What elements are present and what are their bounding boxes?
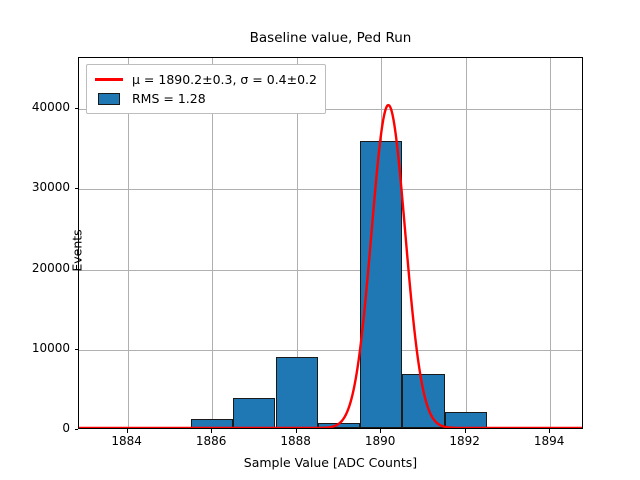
x-tick-label: 1888: [256, 434, 336, 448]
x-tick-label: 1886: [171, 434, 251, 448]
y-tick-label: 10000: [0, 341, 70, 355]
legend-entry-label: μ = 1890.2±0.3, σ = 0.4±0.2: [132, 72, 317, 87]
x-tick-mark: [465, 429, 466, 433]
x-tick-label: 1892: [425, 434, 505, 448]
y-tick-label: 30000: [0, 180, 70, 194]
legend-entry-histogram: RMS = 1.28: [94, 89, 317, 108]
x-tick-label: 1890: [340, 434, 420, 448]
x-tick-label: 1884: [87, 434, 167, 448]
legend-line-key-icon: [94, 78, 124, 81]
y-tick-label: 20000: [0, 261, 70, 275]
legend-entry-label: RMS = 1.28: [132, 91, 206, 106]
x-tick-mark: [380, 429, 381, 433]
chart-legend: μ = 1890.2±0.3, σ = 0.4±0.2 RMS = 1.28: [86, 64, 326, 114]
chart-title: Baseline value, Ped Run: [78, 30, 583, 46]
x-tick-mark: [211, 429, 212, 433]
chart-figure: Baseline value, Ped Run 1884188618881890…: [0, 0, 640, 480]
y-tick-mark: [75, 108, 79, 109]
y-tick-mark: [75, 349, 79, 350]
legend-patch-key-icon: [94, 93, 124, 105]
x-tick-mark: [296, 429, 297, 433]
y-tick-mark: [75, 429, 79, 430]
y-tick-label: 40000: [0, 100, 70, 114]
legend-entry-fit: μ = 1890.2±0.3, σ = 0.4±0.2: [94, 70, 317, 89]
x-tick-mark: [549, 429, 550, 433]
x-tick-label: 1894: [509, 434, 589, 448]
x-tick-mark: [127, 429, 128, 433]
y-axis-label: Events: [70, 171, 85, 331]
y-tick-label: 0: [0, 421, 70, 435]
x-axis-label: Sample Value [ADC Counts]: [78, 455, 583, 470]
